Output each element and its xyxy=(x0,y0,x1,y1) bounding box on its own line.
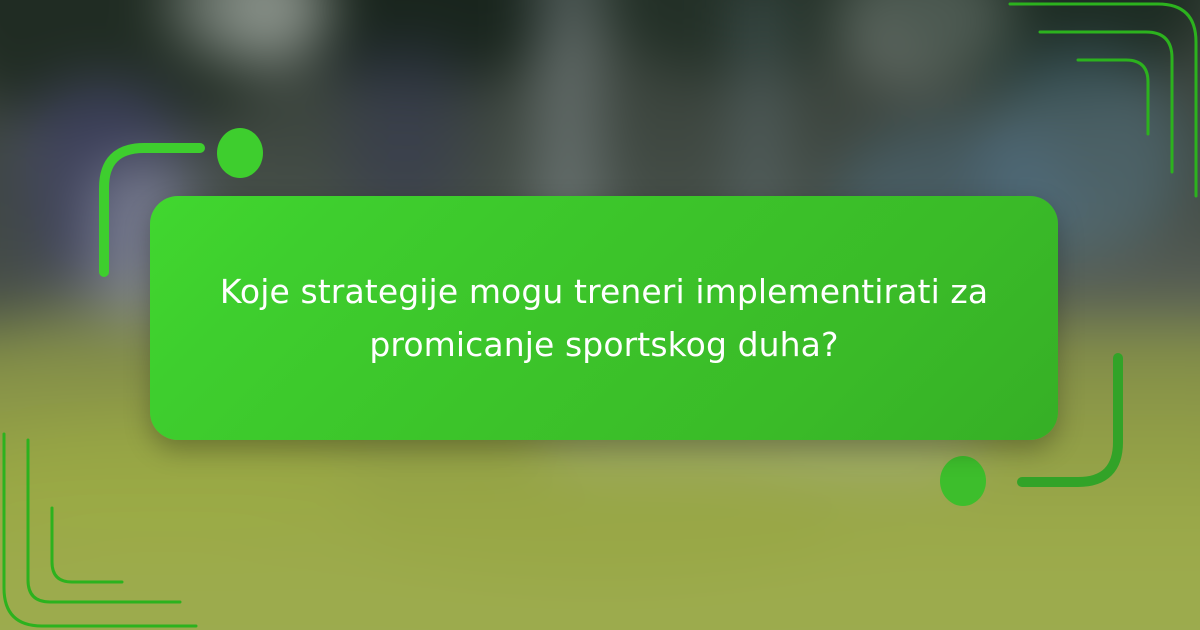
accent-dot-top-left xyxy=(217,128,263,178)
background-blob xyxy=(356,448,844,586)
question-text: Koje strategije mogu treneri implementir… xyxy=(174,265,1034,372)
background-blob xyxy=(346,45,463,215)
social-card-stage: Koje strategije mogu treneri implementir… xyxy=(0,0,1200,630)
accent-dot-bottom-right xyxy=(940,456,986,506)
question-card: Koje strategije mogu treneri implementir… xyxy=(150,196,1058,440)
